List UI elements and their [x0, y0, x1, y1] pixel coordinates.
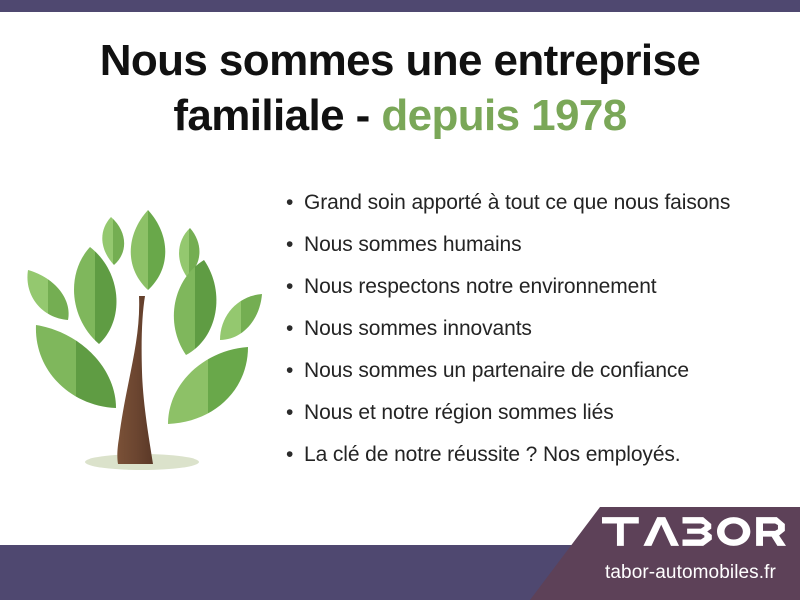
- tree-trunk: [117, 296, 153, 464]
- list-item-label: Nous respectons notre environnement: [304, 276, 657, 297]
- bullet-marker-icon: •: [286, 318, 304, 339]
- top-accent-band: [0, 0, 800, 12]
- tree-illustration: [18, 192, 280, 492]
- tree-leaves: [27, 210, 262, 424]
- list-item-label: Nous sommes humains: [304, 234, 522, 255]
- list-item: • La clé de notre réussite ? Nos employé…: [286, 444, 786, 486]
- list-item-label: Grand soin apporté à tout ce que nous fa…: [304, 192, 730, 213]
- bullet-marker-icon: •: [286, 444, 304, 465]
- headline-line-2-black: familiale -: [173, 91, 381, 140]
- slide-canvas: Nous sommes une entreprise familiale - d…: [0, 0, 800, 600]
- page-title: Nous sommes une entreprise familiale - d…: [40, 33, 760, 144]
- benefits-list: • Grand soin apporté à tout ce que nous …: [286, 192, 786, 486]
- list-item-label: Nous sommes un partenaire de confiance: [304, 360, 689, 381]
- list-item-label: La clé de notre réussite ? Nos employés.: [304, 444, 681, 465]
- brand-tagline: tabor-automobiles.fr: [605, 562, 776, 584]
- bullet-marker-icon: •: [286, 402, 304, 423]
- list-item: • Nous sommes humains: [286, 234, 786, 276]
- headline-line-2: familiale - depuis 1978: [40, 88, 760, 143]
- headline-accent-year: depuis 1978: [381, 91, 626, 140]
- bullet-marker-icon: •: [286, 234, 304, 255]
- list-item-label: Nous sommes innovants: [304, 318, 532, 339]
- list-item: • Nous et notre région sommes liés: [286, 402, 786, 444]
- bullet-marker-icon: •: [286, 360, 304, 381]
- list-item: • Nous sommes un partenaire de confiance: [286, 360, 786, 402]
- bullet-marker-icon: •: [286, 192, 304, 213]
- list-item-label: Nous et notre région sommes liés: [304, 402, 614, 423]
- list-item: • Nous respectons notre environnement: [286, 276, 786, 318]
- list-item: • Grand soin apporté à tout ce que nous …: [286, 192, 786, 234]
- bullet-marker-icon: •: [286, 276, 304, 297]
- tabor-wordmark: [602, 517, 786, 557]
- headline-line-1: Nous sommes une entreprise: [40, 33, 760, 88]
- list-item: • Nous sommes innovants: [286, 318, 786, 360]
